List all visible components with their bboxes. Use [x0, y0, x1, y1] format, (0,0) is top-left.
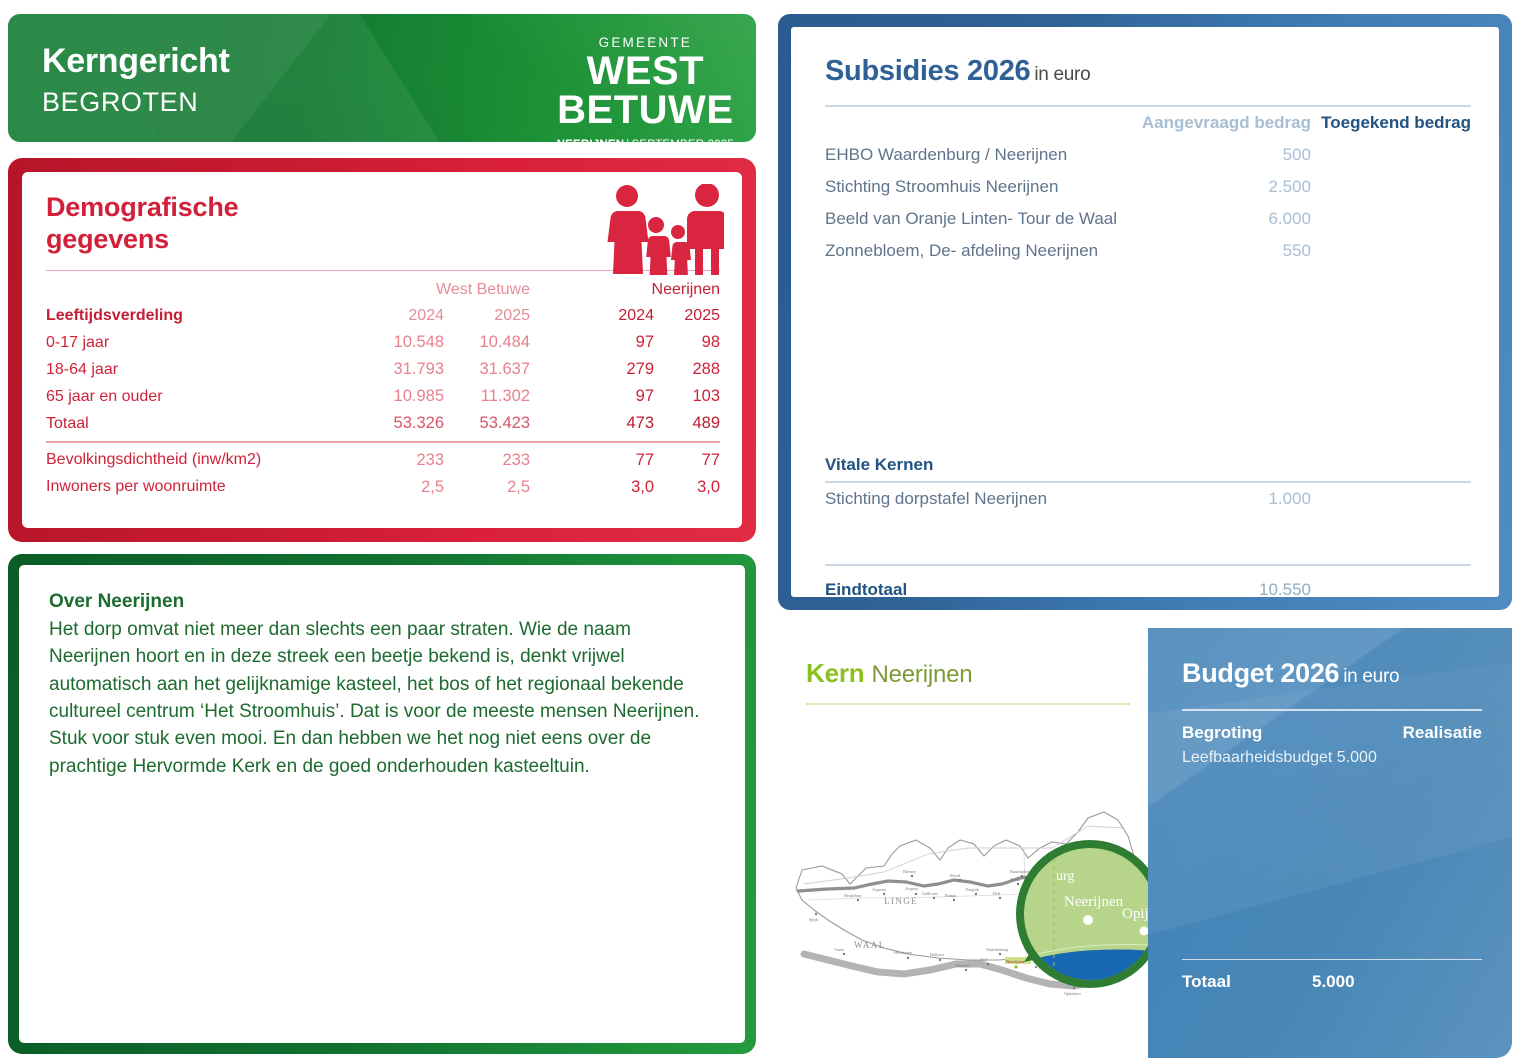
demographics-card: Demografische gegevens — [8, 158, 756, 542]
vitale-kernen-name: Stichting dorpstafel Neerijnen — [825, 483, 1131, 515]
river-label-linge: LINGE — [884, 896, 918, 906]
budget-total-row: Totaal 5.000 — [1182, 972, 1482, 992]
about-card-inner: Over Neerijnen Het dorp omvat niet meer … — [19, 565, 745, 1043]
page-header-banner: Kerngericht BEGROTEN GEMEENTE WEST BETUW… — [8, 14, 756, 142]
svg-text:Rumpt: Rumpt — [945, 893, 957, 898]
kern-heading-rule — [806, 703, 1130, 705]
cell-wb-2025: 10.484 — [444, 329, 530, 356]
svg-text:Tricht: Tricht — [1010, 877, 1021, 882]
logo-place: NEERIJNEN — [557, 139, 625, 142]
table-row: EHBO Waardenburg / Neerijnen 500 — [825, 139, 1471, 171]
group-header-west-betuwe: West Betuwe — [358, 277, 530, 303]
budget-total-label: Totaal — [1182, 972, 1312, 992]
callout-label-neerijnen: Neerijnen — [1064, 894, 1124, 910]
subsidy-granted — [1311, 235, 1471, 267]
about-body: Het dorp omvat niet meer dan slechts een… — [49, 616, 715, 780]
svg-text:Spijk: Spijk — [809, 917, 819, 922]
table-row: Zonnebloem, De- afdeling Neerijnen 550 — [825, 235, 1471, 267]
svg-text:Acquoy: Acquoy — [905, 886, 919, 891]
logo-line-2: BETUWE — [557, 91, 734, 130]
table-divider-row — [46, 437, 720, 447]
table-total-row: Eindtotaal 10.550 — [825, 574, 1471, 606]
kern-heading-bold: Kern — [806, 658, 864, 688]
svg-text:Tuil: Tuil — [980, 957, 988, 962]
svg-text:Ophemert: Ophemert — [1064, 991, 1082, 996]
group-header-neerijnen: Neerijnen — [588, 277, 720, 303]
demographics-title-line-2: gegevens — [46, 224, 169, 254]
budget-total-rule — [1182, 959, 1482, 961]
west-betuwe-map: LINGE WAAL Spijk Heukelum Asperen Acquoy… — [788, 748, 1148, 1048]
demographics-title-line-1: Demografische — [46, 192, 238, 222]
total-wb-2025: 53.423 — [444, 410, 530, 437]
eindtotaal-value: 10.550 — [1131, 574, 1311, 606]
table-row: Bevolkingsdichtheid (inw/km2) 233 233 77… — [46, 447, 720, 474]
kern-map-section: Kern Neerijnen LINGE WAAL Spijk — [788, 628, 1148, 1058]
svg-text:Rhenoy: Rhenoy — [903, 869, 917, 874]
page-subtitle: BEGROTEN — [42, 88, 198, 116]
demographics-card-inner: Demografische gegevens — [22, 172, 742, 528]
table-row: Inwoners per woonruimte 2,5 2,5 3,0 3,0 — [46, 474, 720, 501]
subsidy-requested: 2.500 — [1131, 171, 1311, 203]
table-row: 0-17 jaar 10.548 10.484 97 98 — [46, 329, 720, 356]
cell-ne-2025: 98 — [654, 329, 720, 356]
cell-ne-2025: 77 — [654, 447, 720, 474]
vitale-kernen-block: Vitale Kernen Stichting dorpstafel Neeri… — [825, 455, 1471, 515]
logo-date-line: NEERIJNEN|SEPTEMBER 2025 — [557, 139, 734, 142]
column-header-realisatie: Realisatie — [1403, 723, 1482, 743]
subsidies-unit: in euro — [1030, 64, 1090, 85]
column-header-requested: Aangevraagd bedrag — [1131, 107, 1311, 139]
column-header-granted: Toegekend bedrag — [1311, 107, 1471, 139]
callout-label-waardenburg: urg — [1056, 869, 1074, 884]
budget-total-block: Totaal 5.000 — [1182, 939, 1482, 993]
svg-text:Hellouw: Hellouw — [930, 952, 944, 957]
subsidy-granted — [1311, 203, 1471, 235]
row-label: Bevolkingsdichtheid (inw/km2) — [46, 447, 358, 474]
svg-text:Asperen: Asperen — [872, 887, 887, 892]
kern-heading: Kern Neerijnen — [788, 628, 1148, 689]
total-wb-2024: 53.326 — [358, 410, 444, 437]
about-card: Over Neerijnen Het dorp omvat niet meer … — [8, 554, 756, 1054]
year-header-ne-2025: 2025 — [654, 303, 720, 329]
budget-card: Budget 2026in euro Begroting Realisatie … — [1148, 628, 1512, 1058]
svg-text:Waardenburg: Waardenburg — [986, 947, 1009, 952]
subsidy-requested: 500 — [1131, 139, 1311, 171]
budget-title-text: Budget 2026 — [1182, 658, 1339, 688]
eindtotaal-block: Eindtotaal 10.550 — [825, 547, 1471, 606]
svg-text:Gellicum: Gellicum — [922, 891, 938, 896]
eindtotaal-table: Eindtotaal 10.550 — [825, 574, 1471, 606]
table-row: 18-64 jaar 31.793 31.637 279 288 — [46, 356, 720, 383]
infographic-page: Kerngericht BEGROTEN GEMEENTE WEST BETUW… — [0, 0, 1519, 1063]
subsidies-title-text: Subsidies 2026 — [825, 55, 1030, 87]
subsidy-name: Beeld van Oranje Linten- Tour de Waal — [825, 203, 1131, 235]
cell-wb-2025: 31.637 — [444, 356, 530, 383]
vitale-kernen-table: Stichting dorpstafel Neerijnen 1.000 — [825, 483, 1471, 515]
cell-wb-2025: 233 — [444, 447, 530, 474]
total-ne-2024: 473 — [588, 410, 654, 437]
vitale-kernen-heading: Vitale Kernen — [825, 455, 1471, 475]
table-divider — [46, 441, 720, 443]
subsidy-name: EHBO Waardenburg / Neerijnen — [825, 139, 1131, 171]
row-label: Inwoners per woonruimte — [46, 474, 358, 501]
table-column-header-row: Leeftijdsverdeling 2024 2025 2024 2025 — [46, 303, 720, 329]
svg-text:Haaften: Haaften — [956, 963, 970, 968]
vitale-kernen-requested: 1.000 — [1131, 483, 1311, 515]
year-header-ne-2024: 2024 — [588, 303, 654, 329]
about-heading: Over Neerijnen — [49, 591, 715, 613]
cell-wb-2024: 2,5 — [358, 474, 444, 501]
table-group-header-row: West Betuwe Neerijnen — [46, 277, 720, 303]
cell-ne-2024: 97 — [588, 329, 654, 356]
cell-ne-2025: 3,0 — [654, 474, 720, 501]
column-header-begroting: Begroting — [1182, 723, 1262, 743]
year-header-wb-2024: 2024 — [358, 303, 444, 329]
budget-title: Budget 2026in euro — [1182, 658, 1482, 689]
svg-text:Buurmalsen: Buurmalsen — [1010, 869, 1031, 874]
page-title: Kerngericht — [42, 44, 230, 80]
subsidy-name: Zonnebloem, De- afdeling Neerijnen — [825, 235, 1131, 267]
svg-text:Deil: Deil — [993, 891, 1001, 896]
subsidy-requested: 6.000 — [1131, 203, 1311, 235]
row-label: 65 jaar en ouder — [46, 383, 358, 410]
svg-text:Enspijk: Enspijk — [966, 887, 980, 892]
cell-ne-2025: 288 — [654, 356, 720, 383]
subsidies-title: Subsidies 2026in euro — [825, 55, 1471, 88]
cell-ne-2025: 103 — [654, 383, 720, 410]
year-header-wb-2025: 2025 — [444, 303, 530, 329]
logo-prefix: GEMEENTE — [557, 36, 734, 50]
subsidy-granted — [1311, 139, 1471, 171]
budget-line-item: Leefbaarheidsbudget 5.000 — [1182, 749, 1482, 767]
eindtotaal-label: Eindtotaal — [825, 574, 1131, 606]
subsidies-header-row: Aangevraagd bedrag Toegekend bedrag — [825, 107, 1471, 139]
subsidies-card-inner: Subsidies 2026in euro Aangevraagd bedrag… — [791, 27, 1499, 597]
cell-wb-2024: 31.793 — [358, 356, 444, 383]
svg-text:Herwijnen: Herwijnen — [894, 950, 913, 955]
cell-wb-2024: 233 — [358, 447, 444, 474]
logo-date: SEPTEMBER 2025 — [631, 139, 734, 142]
svg-text:Beesd: Beesd — [950, 873, 961, 878]
logo-separator: | — [624, 139, 631, 142]
table-row: 65 jaar en ouder 10.985 11.302 97 103 — [46, 383, 720, 410]
cell-ne-2024: 279 — [588, 356, 654, 383]
eindtotaal-rule — [825, 564, 1471, 566]
row-label: 18-64 jaar — [46, 356, 358, 383]
svg-text:Heukelum: Heukelum — [844, 893, 862, 898]
cell-ne-2024: 97 — [588, 383, 654, 410]
budget-title-rule — [1182, 709, 1482, 711]
subsidies-table: Aangevraagd bedrag Toegekend bedrag EHBO… — [825, 107, 1471, 267]
kern-heading-place: Neerijnen — [871, 661, 972, 688]
logo-line-1: WEST — [557, 52, 734, 91]
demographics-table: West Betuwe Neerijnen Leeftijdsverdeling… — [46, 277, 720, 501]
callout-label-opijnen: Opijn — [1122, 906, 1148, 922]
total-label: Totaal — [46, 410, 358, 437]
cell-wb-2024: 10.548 — [358, 329, 444, 356]
cell-wb-2024: 10.985 — [358, 383, 444, 410]
budget-total-value: 5.000 — [1312, 972, 1355, 992]
row-label: 0-17 jaar — [46, 329, 358, 356]
total-ne-2025: 489 — [654, 410, 720, 437]
budget-header-row: Begroting Realisatie — [1182, 723, 1482, 743]
cell-wb-2025: 11.302 — [444, 383, 530, 410]
budget-unit: in euro — [1339, 666, 1399, 687]
cell-ne-2024: 77 — [588, 447, 654, 474]
subsidy-granted — [1311, 171, 1471, 203]
municipality-logo: GEMEENTE WEST BETUWE NEERIJNEN|SEPTEMBER… — [557, 36, 734, 142]
vitale-kernen-granted — [1311, 483, 1471, 515]
table-total-row: Totaal 53.326 53.423 473 489 — [46, 410, 720, 437]
svg-text:Vuren: Vuren — [834, 947, 845, 952]
table-row: Stichting Stroomhuis Neerijnen 2.500 — [825, 171, 1471, 203]
table-row: Stichting dorpstafel Neerijnen 1.000 — [825, 483, 1471, 515]
subsidies-card: Subsidies 2026in euro Aangevraagd bedrag… — [778, 14, 1512, 610]
river-label-waal: WAAL — [854, 940, 886, 950]
table-row: Beeld van Oranje Linten- Tour de Waal 6.… — [825, 203, 1471, 235]
family-icon — [604, 184, 724, 281]
cell-ne-2024: 3,0 — [588, 474, 654, 501]
subsidy-name: Stichting Stroomhuis Neerijnen — [825, 171, 1131, 203]
map-label-neerijnen: Neerijnen — [1006, 959, 1025, 964]
column-header-leeftijdsverdeling: Leeftijdsverdeling — [46, 303, 358, 329]
cell-wb-2025: 2,5 — [444, 474, 530, 501]
subsidy-requested: 550 — [1131, 235, 1311, 267]
